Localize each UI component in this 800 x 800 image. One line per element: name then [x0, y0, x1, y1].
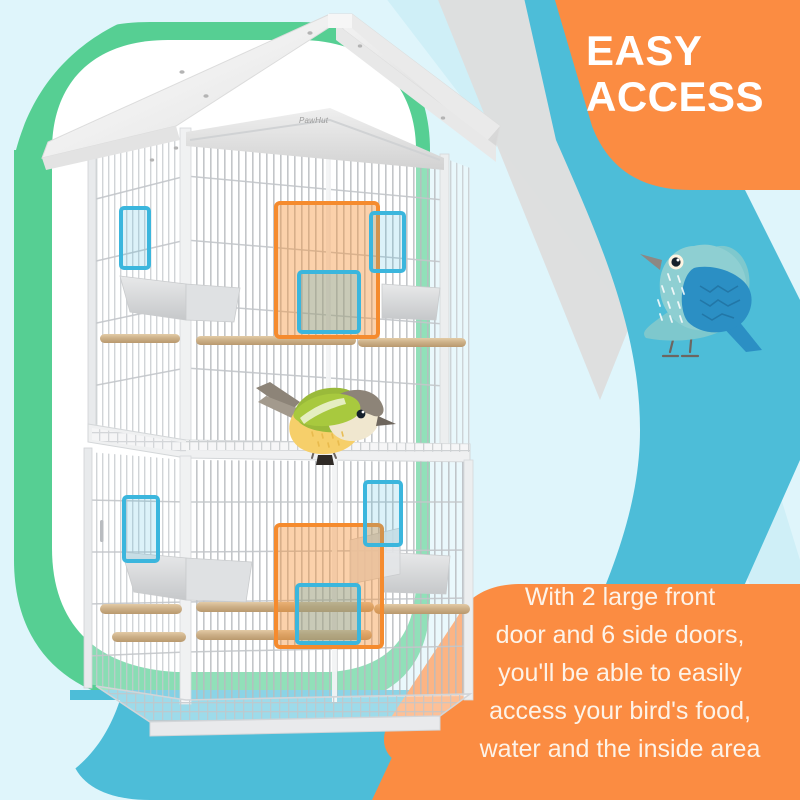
yellow-bird-illustration — [256, 382, 396, 465]
blue-bird-illustration — [640, 245, 762, 356]
yellow-bird-beak — [376, 416, 396, 426]
blue-bird-eye-glint — [677, 259, 680, 262]
brand-logo: PawHut — [299, 116, 328, 125]
yellow-bird-eye — [357, 410, 366, 419]
blue-bird-eye — [671, 257, 680, 266]
headline-text: EASY ACCESS — [586, 28, 796, 120]
body-copy-text: With 2 large front door and 6 side doors… — [444, 578, 796, 768]
marketing-banner: PawHut EASY ACCESS With 2 large front do… — [0, 0, 800, 800]
yellow-bird-foot-grip — [316, 455, 334, 465]
yellow-bird-eye-glint — [362, 411, 365, 414]
blue-bird-beak — [640, 254, 662, 270]
